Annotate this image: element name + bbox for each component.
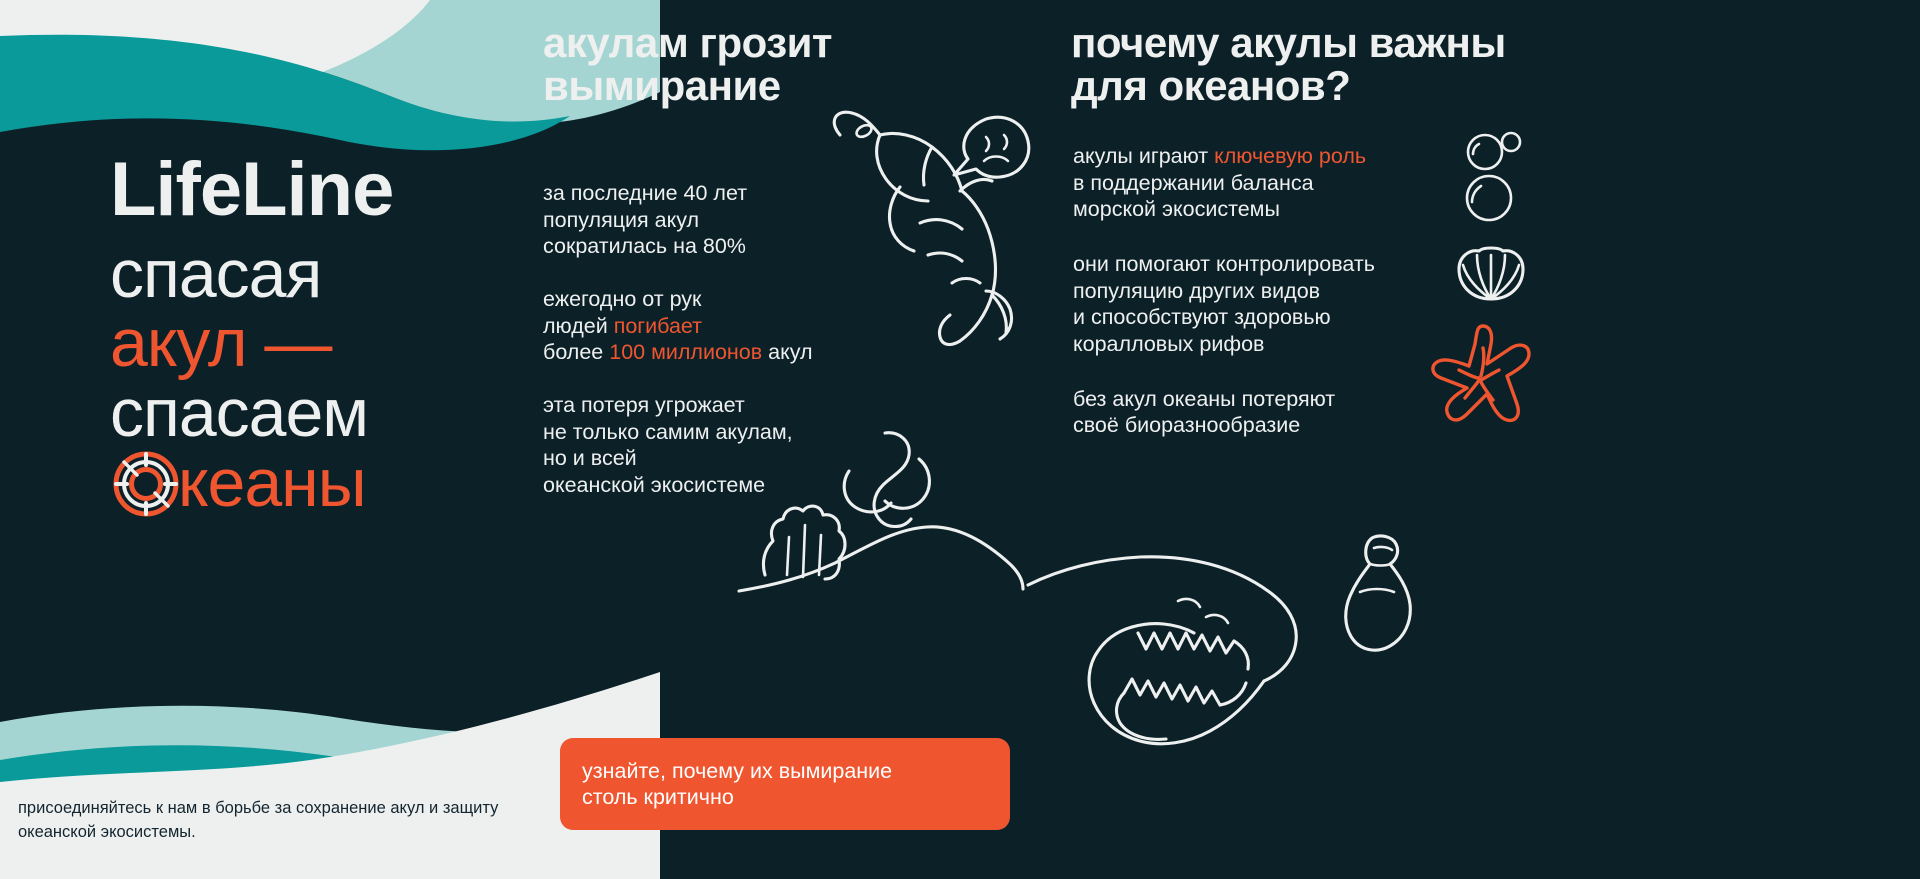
right-para-1-pre: акулы играют (1073, 144, 1214, 168)
left-caption: присоединяйтесь к нам в борьбе за сохран… (18, 797, 558, 845)
headline-line-2: акул — (110, 309, 660, 378)
brand-block: LifeLine спасая акул — спасаем (0, 0, 660, 879)
right-para-1: акулы играют ключевую роль в поддержании… (1073, 143, 1493, 223)
brand-logo: LifeLine (110, 152, 660, 228)
headline-line-4: кеаны (110, 448, 660, 520)
starfish-illustration (1425, 318, 1541, 434)
page-title: спасая акул — спасаем (110, 240, 660, 520)
headline-line-4-text: кеаны (178, 445, 366, 521)
headline-line-1: спасая (110, 240, 660, 309)
hammerhead-shark-illustration (800, 95, 1040, 360)
right-para-1-accent: ключевую роль (1214, 144, 1366, 168)
lifebuoy-icon (110, 448, 182, 520)
bottle-illustration (1330, 530, 1422, 660)
bubbles-illustration (1455, 130, 1533, 230)
seaweed-illustration (735, 425, 1025, 595)
shark-head-illustration (1020, 505, 1320, 815)
right-column-title: почему акулы важны для океанов? (1071, 22, 1591, 108)
headline-line-3: спасаем (110, 379, 660, 448)
infographic-canvas: LifeLine спасая акул — спасаем (0, 0, 1920, 879)
shell-illustration (1455, 245, 1527, 303)
right-para-1-post: в поддержании баланса морской экосистемы (1073, 171, 1314, 222)
speech-bubble-icon (954, 117, 1029, 177)
left-brand-panel: LifeLine спасая акул — спасаем (0, 0, 660, 879)
